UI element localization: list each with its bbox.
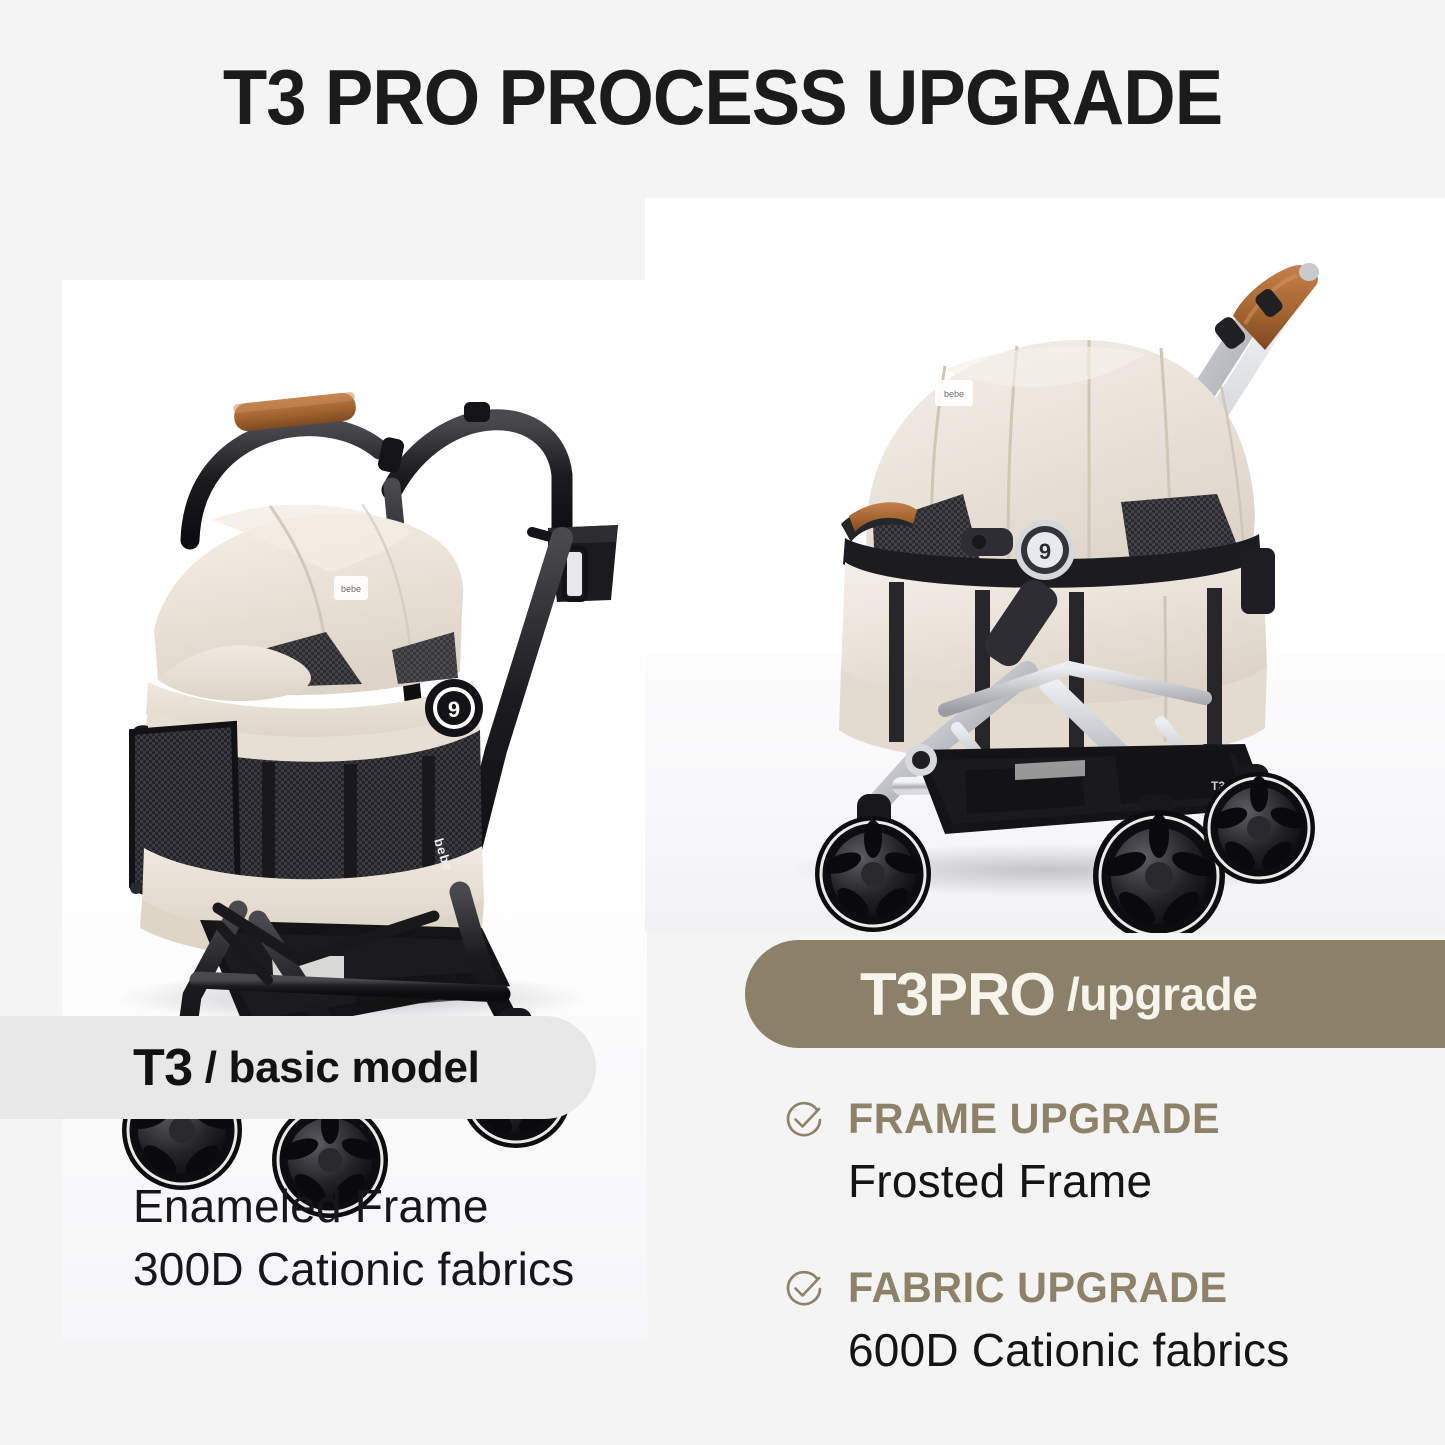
badge-pro-model-name: T3PRO <box>860 960 1055 1029</box>
feature-fabric-upgrade-title: FABRIC UPGRADE <box>848 1264 1228 1313</box>
feature-fabric-upgrade: FABRIC UPGRADE 600D Cationic fabrics <box>782 1264 1422 1377</box>
wheel-front <box>815 816 931 932</box>
carrier-canopy: bebe <box>154 504 463 701</box>
badge-basic-model-name: T3 <box>133 1038 193 1098</box>
badge-pro-model-qualifier: /upgrade <box>1067 967 1257 1021</box>
svg-text:bebe: bebe <box>341 584 361 594</box>
right-product-photo-card: bebe <box>645 198 1445 933</box>
badge-pro-model: T3PRO /upgrade <box>745 940 1445 1048</box>
frame-hub-logo: 9 <box>1015 520 1075 580</box>
svg-text:9: 9 <box>448 697 460 722</box>
svg-text:bebe: bebe <box>944 389 964 399</box>
leather-handle-grip <box>1212 263 1319 352</box>
upgrade-feature-list: FRAME UPGRADE Frosted Frame FABRIC UPGRA… <box>782 1095 1422 1433</box>
badge-basic-model-qualifier: / basic model <box>205 1043 480 1093</box>
feature-frame-upgrade: FRAME UPGRADE Frosted Frame <box>782 1095 1422 1208</box>
left-spec-item-1: 300D Cationic fabrics <box>133 1238 574 1301</box>
feature-frame-upgrade-title: FRAME UPGRADE <box>848 1095 1220 1144</box>
left-spec-item-0: Enameled Frame <box>133 1175 574 1238</box>
check-circle-icon <box>782 1098 826 1142</box>
feature-frame-upgrade-head: FRAME UPGRADE <box>782 1095 1422 1144</box>
t3-pro-stroller-illustration: bebe <box>645 198 1445 933</box>
feature-frame-upgrade-desc: Frosted Frame <box>848 1154 1422 1208</box>
infographic-page: T3 PRO PROCESS UPGRADE <box>0 0 1445 1445</box>
page-title: T3 PRO PROCESS UPGRADE <box>51 52 1395 143</box>
left-spec-list: Enameled Frame 300D Cationic fabrics <box>133 1175 574 1302</box>
feature-fabric-upgrade-desc: 600D Cationic fabrics <box>848 1323 1422 1377</box>
feature-fabric-upgrade-head: FABRIC UPGRADE <box>782 1264 1422 1313</box>
frame-hub-logo: 9 <box>425 679 483 737</box>
svg-text:9: 9 <box>1039 539 1051 564</box>
badge-basic-model: T3 / basic model <box>0 1016 596 1119</box>
check-circle-icon <box>782 1267 826 1311</box>
wheel-rear <box>1203 772 1315 884</box>
